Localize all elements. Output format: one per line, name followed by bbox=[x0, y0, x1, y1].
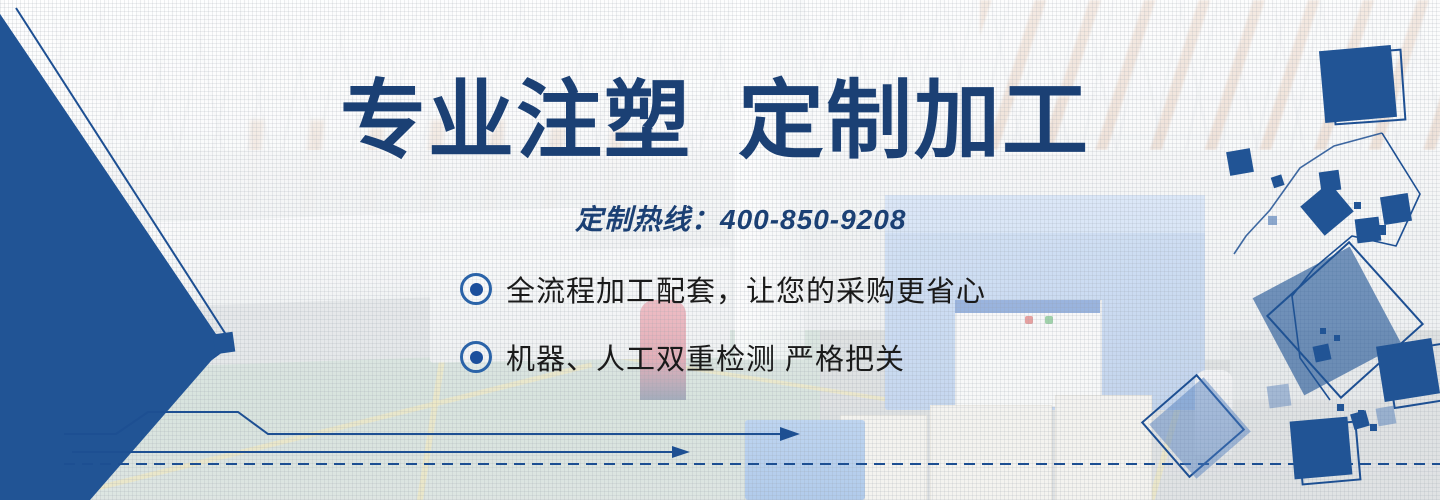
hotline-label: 定制热线： bbox=[575, 204, 720, 235]
feature-text: 机器、人工双重检测 严格把关 bbox=[506, 336, 905, 378]
title-part-1: 专业注塑 bbox=[340, 73, 692, 169]
feature-list: 全流程加工配套，让您的采购更省心 机器、人工双重检测 严格把关 bbox=[460, 268, 986, 404]
feature-text: 全流程加工配套，让您的采购更省心 bbox=[506, 268, 986, 310]
banner-content: 专业注塑定制加工 定制热线：400-850-9208 全流程加工配套，让您的采购… bbox=[0, 0, 1440, 500]
hotline-text: 定制热线：400-850-9208 bbox=[575, 198, 906, 238]
hotline-number: 400-850-9208 bbox=[720, 204, 906, 235]
title-part-2: 定制加工 bbox=[738, 73, 1090, 169]
radio-dot-icon bbox=[460, 341, 492, 373]
page-title: 专业注塑定制加工 bbox=[340, 78, 1140, 164]
promo-banner: 专业注塑定制加工 定制热线：400-850-9208 全流程加工配套，让您的采购… bbox=[0, 0, 1440, 500]
radio-dot-icon bbox=[460, 273, 492, 305]
list-item: 机器、人工双重检测 严格把关 bbox=[460, 336, 986, 378]
list-item: 全流程加工配套，让您的采购更省心 bbox=[460, 268, 986, 310]
